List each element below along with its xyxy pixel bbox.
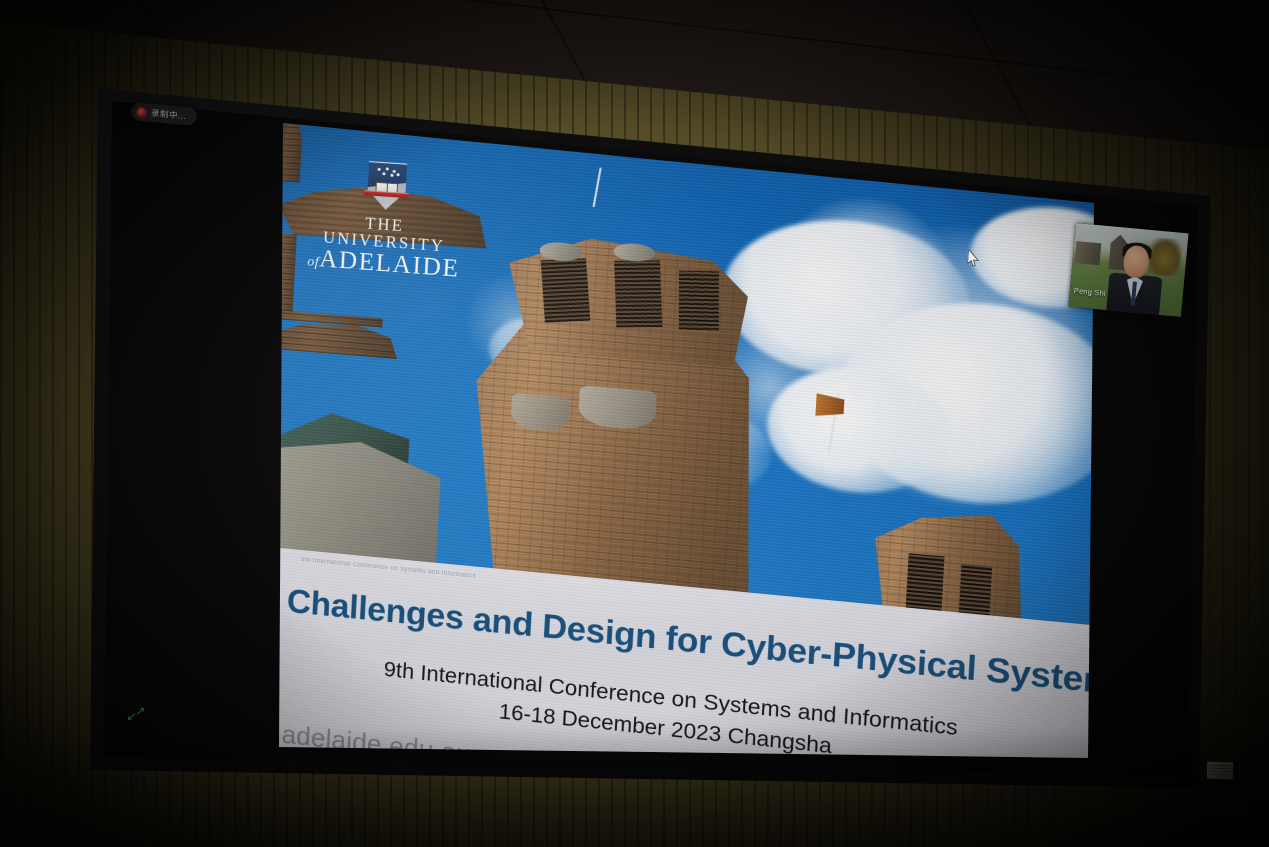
recording-label: 录制中... — [151, 107, 188, 122]
record-dot-icon — [137, 107, 147, 117]
lower-shadow — [0, 727, 1269, 847]
expand-arrow-icon[interactable] — [126, 704, 146, 724]
mouse-cursor — [967, 250, 980, 268]
room-photo-scene: THE UNIVERSITY ofADELAIDE 9th Internatio… — [0, 0, 1269, 847]
participant-avatar — [1109, 243, 1162, 314]
background-building-left — [1075, 242, 1102, 266]
university-logo: THE UNIVERSITY ofADELAIDE — [307, 157, 464, 281]
adelaide-crest-icon — [365, 161, 408, 211]
participant-video-thumbnail[interactable]: Peng Shi — [1068, 223, 1188, 317]
